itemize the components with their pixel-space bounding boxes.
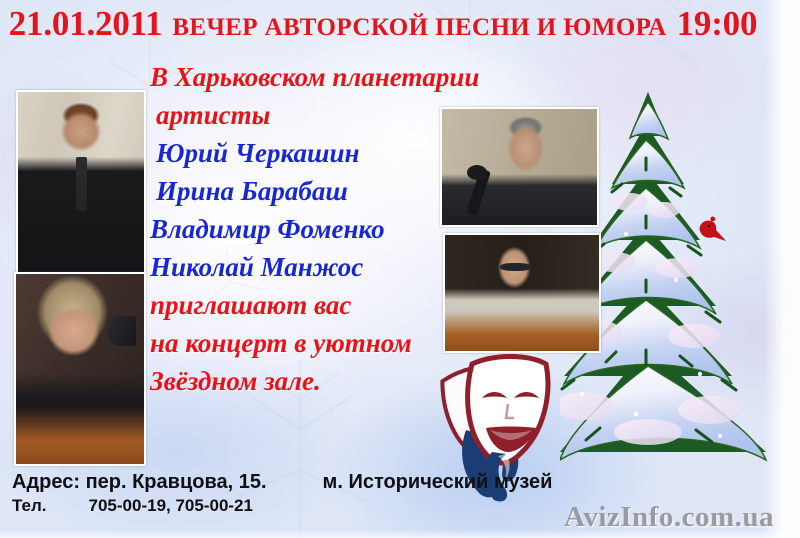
address-row: Адрес: пер. Кравцова, 15. м. Исторически…	[12, 471, 552, 494]
photo-cherkashin	[16, 90, 146, 274]
poster-header: 21.01.2011 ВЕЧЕР АВТОРСКОЙ ПЕСНИ И ЮМОРА…	[0, 4, 766, 50]
photo-fomenko	[440, 107, 599, 227]
poster-footer: Адрес: пер. Кравцова, 15. м. Исторически…	[12, 471, 552, 516]
message-line-2: артисты	[156, 96, 450, 134]
photo-manzhos	[443, 233, 601, 353]
message-line-6: Николай Манжос	[150, 248, 450, 286]
message-line-3: Юрий Черкашин	[156, 134, 450, 172]
address-label: Адрес:	[12, 471, 80, 494]
poster: 21.01.2011 ВЕЧЕР АВТОРСКОЙ ПЕСНИ И ЮМОРА…	[0, 0, 800, 538]
message-line-7: приглашают вас	[150, 286, 450, 324]
red-cardinal-icon	[694, 215, 728, 245]
event-time: 19:00	[677, 4, 758, 44]
metro-station: м. Исторический музей	[323, 471, 553, 494]
message-line-1: В Харьковском планетарии	[150, 58, 450, 96]
address-value: пер. Кравцова, 15.	[86, 471, 267, 494]
telephone-row: Тел. 705-00-19, 705-00-21	[12, 496, 552, 516]
message-line-4: Ирина Барабаш	[156, 172, 450, 210]
telephone-value: 705-00-19, 705-00-21	[89, 496, 253, 516]
photo-barabash	[14, 272, 146, 466]
event-date: 21.01.2011	[9, 4, 163, 44]
message-block: В Харьковском планетарии артисты Юрий Че…	[150, 58, 450, 400]
telephone-label: Тел.	[12, 496, 47, 516]
message-line-8: на концерт в уютном	[150, 324, 450, 362]
message-line-5: Владимир Фоменко	[150, 210, 450, 248]
site-watermark: AvizInfo.com.ua	[564, 501, 774, 534]
message-line-9: Звёздном зале.	[150, 362, 450, 400]
event-title: ВЕЧЕР АВТОРСКОЙ ПЕСНИ И ЮМОРА	[172, 14, 666, 42]
